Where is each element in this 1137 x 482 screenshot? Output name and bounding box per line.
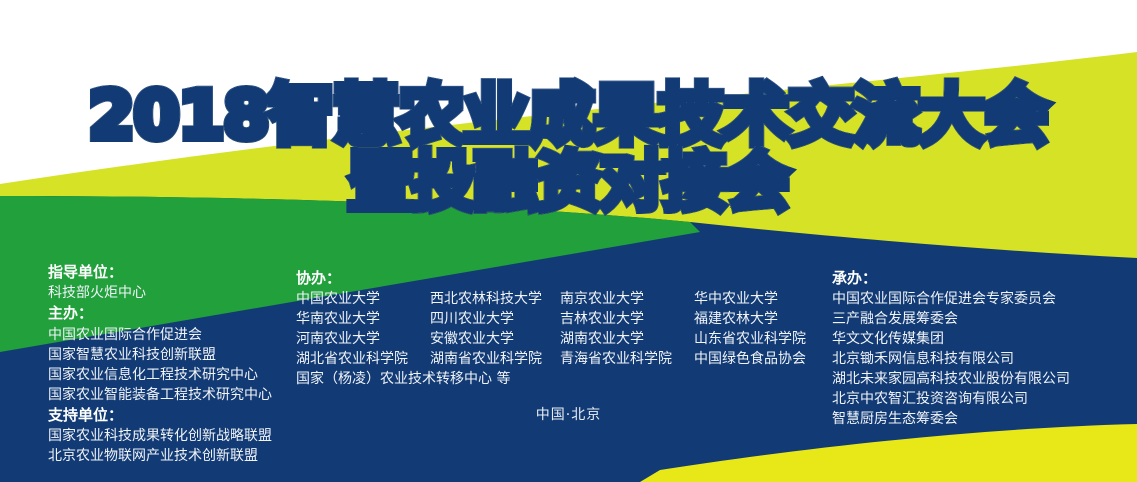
guidance-unit-heading: 指导单位： (48, 262, 272, 283)
co-organizer-item: 西北农林科技大学 (430, 289, 560, 309)
co-organizer-item: 中国农业大学 (296, 289, 430, 309)
co-organizer-item: 湖南省农业科学院 (430, 349, 560, 369)
support-unit-item: 国家农业科技成果转化创新战略联盟 (48, 426, 272, 446)
organizer-item: 湖北未来家园高科技农业股份有限公司 (832, 369, 1070, 389)
host-heading: 主办： (48, 303, 272, 324)
co-organizer-row: 华南农业大学 四川农业大学 吉林农业大学 福建农林大学 (296, 309, 806, 329)
co-organizer-item: 河南农业大学 (296, 329, 430, 349)
venue-text: 中国·北京 (536, 407, 601, 423)
co-organizer-row: 中国农业大学 西北农林科技大学 南京农业大学 华中农业大学 (296, 289, 806, 309)
co-organizer-item: 青海省农业科学院 (560, 349, 694, 369)
co-organizer-item: 中国绿色食品协会 (694, 349, 806, 369)
middle-info-column: 协办： 中国农业大学 西北农林科技大学 南京农业大学 华中农业大学 华南农业大学… (296, 268, 806, 389)
co-organizer-item: 山东省农业科学院 (694, 329, 806, 349)
co-organizer-item: 四川农业大学 (430, 309, 560, 329)
co-organizer-row: 河南农业大学 安徽农业大学 湖南农业大学 山东省农业科学院 (296, 329, 806, 349)
co-organizer-item: 湖北省农业科学院 (296, 349, 430, 369)
co-organizer-row: 湖北省农业科学院 湖南省农业科学院 青海省农业科学院 中国绿色食品协会 (296, 349, 806, 369)
venue-line: 中国·北京 (0, 404, 1137, 424)
support-unit-item: 北京农业物联网产业技术创新联盟 (48, 446, 272, 466)
host-item: 国家智慧农业科技创新联盟 (48, 345, 272, 365)
conference-poster: 2018智慧农业成果技术交流大会 2018智慧农业成果技术交流大会 暨投融资对接… (0, 0, 1137, 482)
co-organizer-last-line: 国家（杨凌）农业技术转移中心 等 (296, 369, 806, 389)
host-item: 国家农业智能装备工程技术研究中心 (48, 385, 272, 405)
organizer-item: 华文文化传媒集团 (832, 329, 1070, 349)
co-organizer-item: 安徽农业大学 (430, 329, 560, 349)
co-organizer-heading: 协办： (296, 268, 806, 289)
co-organizer-item: 南京农业大学 (560, 289, 694, 309)
organizer-item: 北京锄禾网信息科技有限公司 (832, 349, 1070, 369)
co-organizer-item: 华中农业大学 (694, 289, 778, 309)
guidance-unit-item: 科技部火炬中心 (48, 283, 272, 303)
co-organizer-item: 湖南农业大学 (560, 329, 694, 349)
co-organizer-grid: 中国农业大学 西北农林科技大学 南京农业大学 华中农业大学 华南农业大学 四川农… (296, 289, 806, 389)
co-organizer-item: 吉林农业大学 (560, 309, 694, 329)
host-item: 国家农业信息化工程技术研究中心 (48, 365, 272, 385)
organizer-heading: 承办： (832, 268, 1070, 289)
co-organizer-item: 华南农业大学 (296, 309, 430, 329)
organizer-item: 中国农业国际合作促进会专家委员会 (832, 289, 1070, 309)
organizer-item: 三产融合发展筹委会 (832, 309, 1070, 329)
left-info-column: 指导单位： 科技部火炬中心 主办： 中国农业国际合作促进会 国家智慧农业科技创新… (48, 262, 272, 466)
co-organizer-item: 福建农林大学 (694, 309, 778, 329)
host-item: 中国农业国际合作促进会 (48, 325, 272, 345)
